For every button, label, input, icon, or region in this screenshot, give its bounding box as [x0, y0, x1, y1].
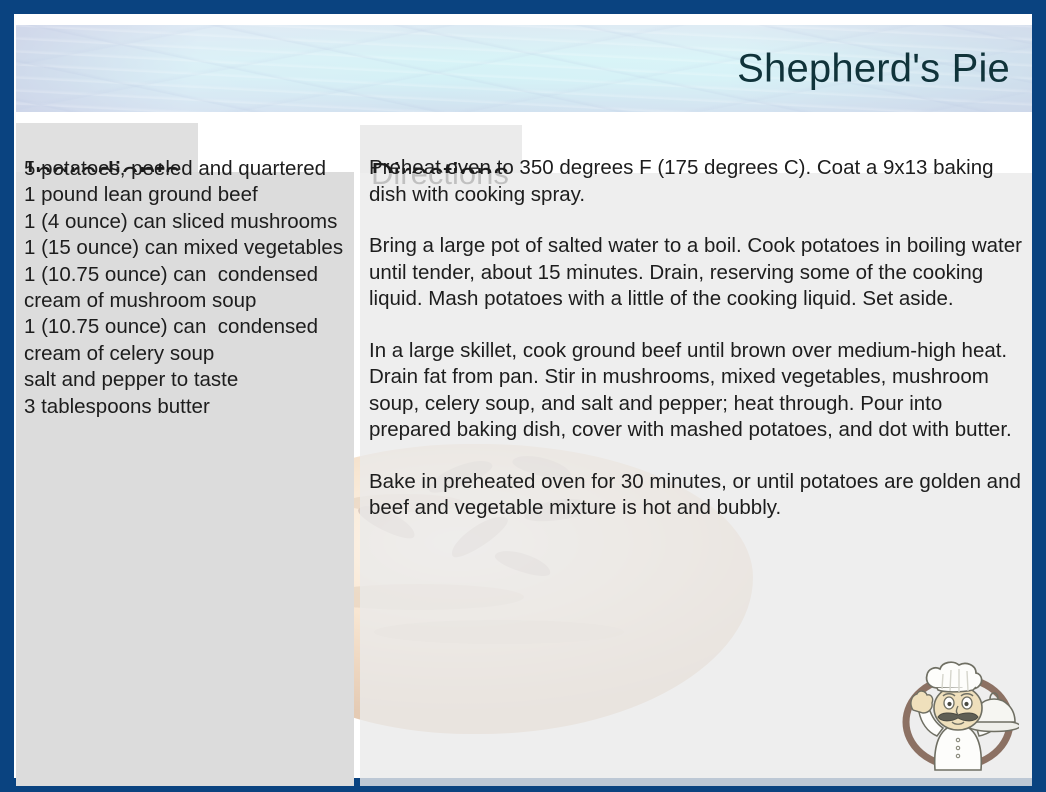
ingredients-list: 5 potatoes, peeled and quartered 1 pound…	[24, 156, 350, 420]
list-item: 1 (15 ounce) can mixed vegetables	[24, 235, 350, 261]
direction-step: Bring a large pot of salted water to a b…	[369, 233, 1025, 313]
list-item: 1 (10.75 ounce) can condensed cream of c…	[24, 314, 350, 367]
list-item: 5 potatoes, peeled and quartered	[24, 156, 350, 182]
directions-panel: Directions Preheat oven to 350 degrees F…	[360, 125, 1032, 786]
list-item: 3 tablespoons butter	[24, 394, 350, 420]
direction-step: In a large skillet, cook ground beef unt…	[369, 338, 1025, 444]
list-item: 1 (4 ounce) can sliced mushrooms	[24, 209, 350, 235]
recipe-card: Shepherd's Pie Ingredients 5 potatoes, p…	[0, 0, 1046, 792]
list-item: 1 pound lean ground beef	[24, 182, 350, 208]
list-item: 1 (10.75 ounce) can condensed cream of m…	[24, 262, 350, 315]
list-item: salt and pepper to taste	[24, 367, 350, 393]
directions-steps: Preheat oven to 350 degrees F (175 degre…	[369, 155, 1025, 522]
direction-step: Preheat oven to 350 degrees F (175 degre…	[369, 155, 1025, 208]
page-title: Shepherd's Pie	[737, 46, 1010, 91]
ingredients-panel: Ingredients 5 potatoes, peeled and quart…	[16, 123, 354, 786]
title-banner: Shepherd's Pie	[16, 25, 1032, 112]
direction-step: Bake in preheated oven for 30 minutes, o…	[369, 469, 1025, 522]
